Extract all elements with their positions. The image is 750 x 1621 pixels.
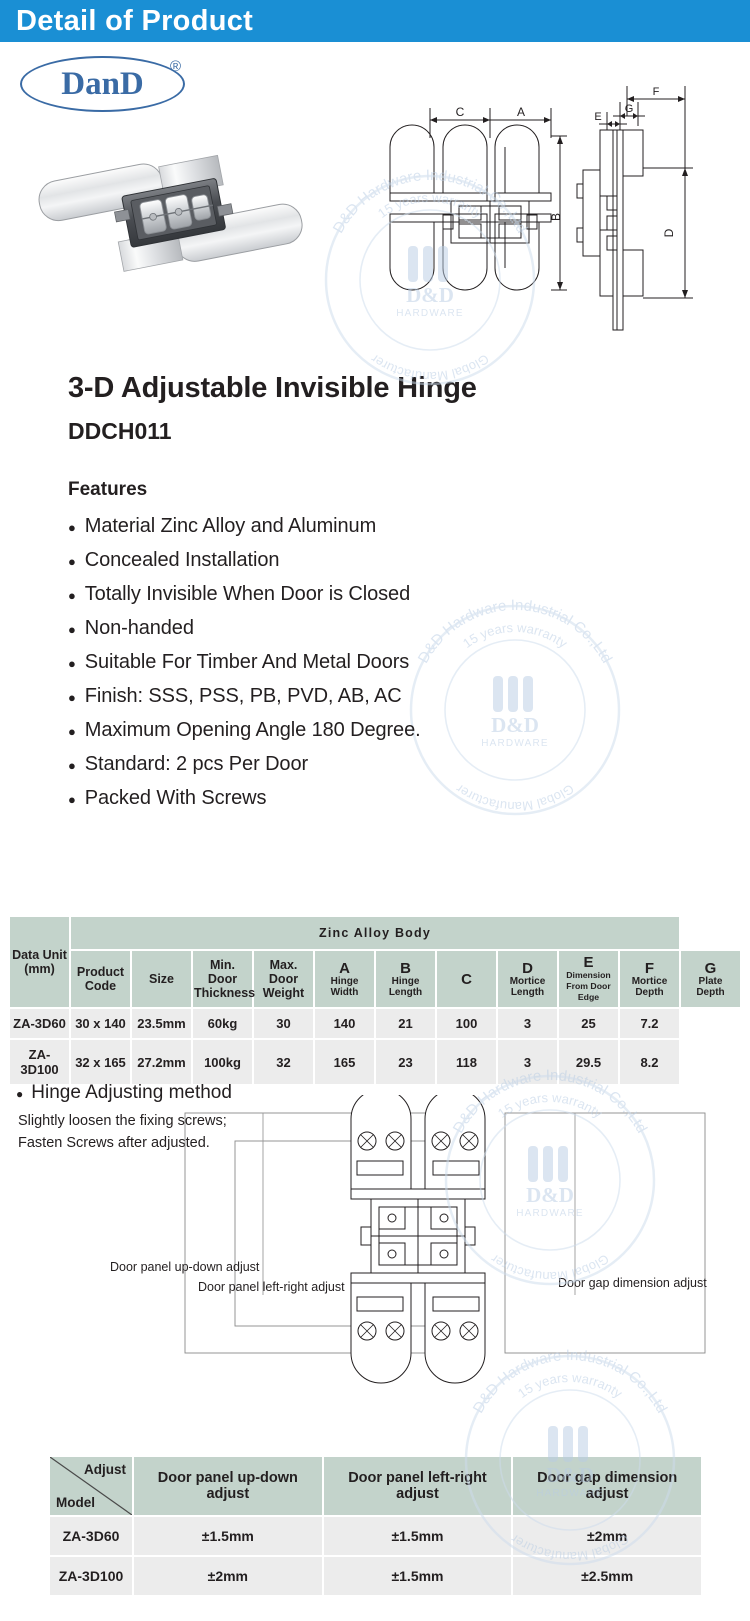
feature-item: ●Maximum Opening Angle 180 Degree. — [68, 714, 750, 748]
column-label: Min.DoorThickness — [194, 958, 255, 1000]
technical-drawings: C A — [355, 72, 740, 352]
adjustment-model-cell: ZA-3D60 — [50, 1517, 132, 1555]
spec-cell: 23.5mm — [132, 1009, 191, 1038]
dimension-sublabel: HingeLength — [377, 976, 434, 998]
spec-cell: 32 — [254, 1040, 313, 1084]
adjustment-value-cell: ±2mm — [513, 1517, 701, 1555]
adjustment-table-row: ZA-3D100±2mm±1.5mm±2.5mm — [50, 1557, 701, 1595]
feature-text: Standard: 2 pcs Per Door — [85, 748, 308, 780]
spec-column-header: BHingeLength — [376, 951, 435, 1007]
spec-cell: 3 — [498, 1040, 557, 1084]
adjustment-column-header: Door panel left-right adjust — [324, 1457, 512, 1515]
features-list: ●Material Zinc Alloy and Aluminum●Concea… — [68, 510, 750, 816]
feature-item: ●Standard: 2 pcs Per Door — [68, 748, 750, 782]
adjustment-value-cell: ±1.5mm — [324, 1517, 512, 1555]
svg-text:G: G — [625, 103, 634, 115]
spec-column-header: Max.DoorWeight — [254, 951, 313, 1007]
dimension-sublabel: PlateDepth — [682, 976, 739, 998]
features-heading: Features — [68, 479, 750, 501]
annotation-left-right-adjust: Door panel left-right adjust — [198, 1280, 345, 1294]
feature-text: Maximum Opening Angle 180 Degree. — [85, 714, 421, 746]
spec-cell: 21 — [376, 1009, 435, 1038]
product-code: DDCH011 — [68, 418, 750, 445]
spec-cell: 118 — [437, 1040, 496, 1084]
dimension-letter: A — [316, 961, 373, 976]
annotation-gap-adjust: Door gap dimension adjust — [558, 1276, 707, 1290]
spec-column-header: EDimensionFrom Door Edge — [559, 951, 618, 1007]
spec-table-body: ZA-3D6030 x 14023.5mm60kg30140211003257.… — [10, 1009, 740, 1084]
adjustment-value-cell: ±2mm — [134, 1557, 322, 1595]
spec-cell: 3 — [498, 1009, 557, 1038]
product-title: 3-D Adjustable Invisible Hinge — [68, 372, 750, 405]
svg-text:C: C — [456, 105, 465, 119]
spec-column-header: ProductCode — [71, 951, 130, 1007]
spec-cell: 100 — [437, 1009, 496, 1038]
bullet-icon: ● — [68, 580, 76, 612]
dimension-letter: F — [621, 961, 678, 976]
spec-cell: 30 x 140 — [71, 1009, 130, 1038]
spec-cell: 8.2 — [620, 1040, 679, 1084]
bullet-icon: ● — [68, 546, 76, 578]
adjustment-table: Adjust Model Door panel up-down adjustDo… — [48, 1455, 703, 1597]
feature-item: ●Suitable For Timber And Metal Doors — [68, 646, 750, 680]
bullet-icon: ● — [68, 512, 76, 544]
spec-column-row: ProductCodeSizeMin.DoorThicknessMax.Door… — [10, 951, 740, 1007]
spec-column-header: Size — [132, 951, 191, 1007]
product-hero: C A — [0, 42, 750, 372]
spec-table-row: ZA-3D6030 x 14023.5mm60kg30140211003257.… — [10, 1009, 740, 1038]
adjustment-column-header: Door panel up-down adjust — [134, 1457, 322, 1515]
adjustment-column-header: Door gap dimension adjust — [513, 1457, 701, 1515]
adjustment-value-cell: ±1.5mm — [134, 1517, 322, 1555]
dimension-sublabel: HingeWidth — [316, 976, 373, 998]
adjustment-header-row: Adjust Model Door panel up-down adjustDo… — [50, 1457, 701, 1515]
page-banner: Detail of Product — [0, 0, 750, 42]
dimension-letter: D — [499, 961, 556, 976]
product-photo — [18, 114, 338, 329]
spec-group-header: Zinc Alloy Body — [71, 917, 679, 949]
adjustment-table-body: ZA-3D60±1.5mm±1.5mm±2mmZA-3D100±2mm±1.5m… — [50, 1517, 701, 1595]
spec-table-head: Data Unit (mm) Zinc Alloy Body ProductCo… — [10, 917, 740, 1007]
feature-item: ●Packed With Screws — [68, 782, 750, 816]
spec-cell: ZA-3D60 — [10, 1009, 69, 1038]
spec-column-header: FMorticeDepth — [620, 951, 679, 1007]
spec-unit-header: Data Unit (mm) — [10, 917, 69, 1007]
dimension-letter: G — [682, 961, 739, 976]
svg-text:B: B — [549, 213, 563, 221]
dimension-letter: E — [560, 955, 617, 970]
svg-text:D: D — [662, 228, 676, 237]
spec-cell: 25 — [559, 1009, 618, 1038]
spec-cell: 29.5 — [559, 1040, 618, 1084]
bullet-icon: ● — [68, 784, 76, 816]
feature-item: ●Material Zinc Alloy and Aluminum — [68, 510, 750, 544]
svg-text:F: F — [653, 86, 660, 98]
dimension-letter: C — [438, 972, 495, 987]
svg-text:A: A — [517, 105, 525, 119]
specification-table: Data Unit (mm) Zinc Alloy Body ProductCo… — [8, 915, 742, 1086]
feature-text: Totally Invisible When Door is Closed — [85, 578, 410, 610]
feature-text: Packed With Screws — [85, 782, 267, 814]
features-section: Features ●Material Zinc Alloy and Alumin… — [68, 479, 750, 816]
bullet-icon: ● — [68, 750, 76, 782]
spec-cell: 140 — [315, 1009, 374, 1038]
feature-item: ●Concealed Installation — [68, 544, 750, 578]
feature-text: Concealed Installation — [85, 544, 280, 576]
bullet-icon: ● — [16, 1078, 23, 1110]
spec-column-header: DMorticeLength — [498, 951, 557, 1007]
dimension-letter: B — [377, 961, 434, 976]
feature-item: ●Totally Invisible When Door is Closed — [68, 578, 750, 612]
column-label: ProductCode — [77, 965, 124, 993]
corner-label-adjust: Adjust — [84, 1462, 126, 1477]
bullet-icon: ● — [68, 682, 76, 714]
column-label: Max.DoorWeight — [263, 958, 304, 1000]
spec-cell: 7.2 — [620, 1009, 679, 1038]
feature-item: ●Non-handed — [68, 612, 750, 646]
corner-label-model: Model — [56, 1495, 95, 1510]
svg-text:E: E — [594, 111, 601, 123]
adjustment-model-cell: ZA-3D100 — [50, 1557, 132, 1595]
spec-column-header: AHingeWidth — [315, 951, 374, 1007]
spec-cell: 23 — [376, 1040, 435, 1084]
spec-column-header: GPlateDepth — [681, 951, 740, 1007]
feature-text: Finish: SSS, PSS, PB, PVD, AB, AC — [85, 680, 402, 712]
dimension-sublabel: MorticeDepth — [621, 976, 678, 998]
adjustment-table-row: ZA-3D60±1.5mm±1.5mm±2mm — [50, 1517, 701, 1555]
annotation-up-down-adjust: Door panel up-down adjust — [110, 1260, 259, 1274]
adjust-model-corner-cell: Adjust Model — [50, 1457, 132, 1515]
spec-column-header: C — [437, 951, 496, 1007]
adjustment-table-head: Adjust Model Door panel up-down adjustDo… — [50, 1457, 701, 1515]
column-label: Size — [149, 972, 174, 986]
feature-text: Suitable For Timber And Metal Doors — [85, 646, 409, 678]
bullet-icon: ● — [68, 716, 76, 748]
feature-item: ●Finish: SSS, PSS, PB, PVD, AB, AC — [68, 680, 750, 714]
spec-group-row: Data Unit (mm) Zinc Alloy Body — [10, 917, 740, 949]
dimension-sublabel: MorticeLength — [499, 976, 556, 998]
spec-column-header: Min.DoorThickness — [193, 951, 252, 1007]
spec-cell: 165 — [315, 1040, 374, 1084]
feature-text: Material Zinc Alloy and Aluminum — [85, 510, 376, 542]
adjustment-value-cell: ±2.5mm — [513, 1557, 701, 1595]
page-title: Detail of Product — [0, 5, 253, 38]
bullet-icon: ● — [68, 648, 76, 680]
dimension-sublabel: DimensionFrom Door Edge — [560, 970, 617, 1003]
bullet-icon: ● — [68, 614, 76, 646]
adjustment-value-cell: ±1.5mm — [324, 1557, 512, 1595]
feature-text: Non-handed — [85, 612, 194, 644]
spec-cell: 60kg — [193, 1009, 252, 1038]
spec-cell: 30 — [254, 1009, 313, 1038]
